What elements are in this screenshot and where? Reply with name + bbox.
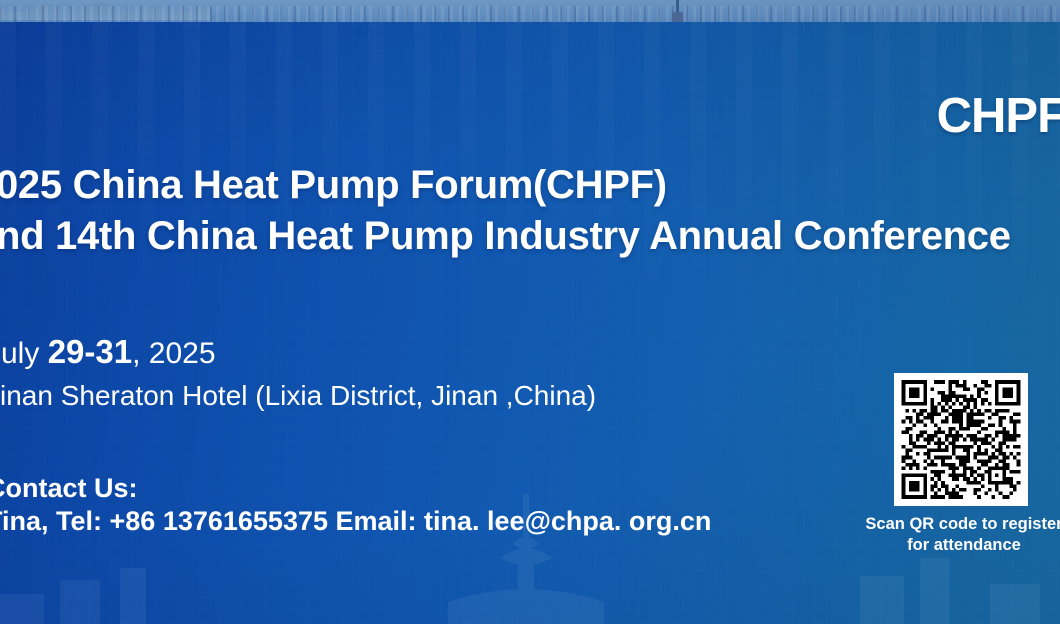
- qr-code-svg: [894, 373, 1028, 506]
- qr-caption-line-1: Scan QR code to register: [858, 514, 1060, 535]
- qr-code-image[interactable]: [894, 373, 1028, 506]
- chpf-logo: CHPF: [937, 92, 1060, 141]
- date-suffix: , 2025: [132, 337, 215, 370]
- event-date: July 29-31, 2025: [0, 333, 216, 371]
- contact-details: Tina, Tel: +86 13761655375 Email: tina. …: [0, 506, 711, 537]
- contact-heading: Contact Us:: [0, 473, 138, 504]
- date-range: 29-31: [48, 333, 132, 370]
- date-prefix: July: [0, 337, 48, 370]
- qr-caption: Scan QR code to register for attendance: [858, 514, 1060, 556]
- qr-caption-line-2: for attendance: [858, 535, 1060, 556]
- banner-content: CHPF 2025 China Heat Pump Forum(CHPF) an…: [0, 0, 1060, 624]
- title-line-1: 2025 China Heat Pump Forum(CHPF): [0, 160, 1060, 211]
- conference-banner: CHPF 2025 China Heat Pump Forum(CHPF) an…: [0, 0, 1060, 624]
- qr-code-block[interactable]: [894, 373, 1028, 506]
- page-title: 2025 China Heat Pump Forum(CHPF) and 14t…: [0, 160, 1060, 262]
- title-line-2: and 14th China Heat Pump Industry Annual…: [0, 211, 1060, 262]
- event-venue: Jinan Sheraton Hotel (Lixia District, Ji…: [0, 380, 596, 412]
